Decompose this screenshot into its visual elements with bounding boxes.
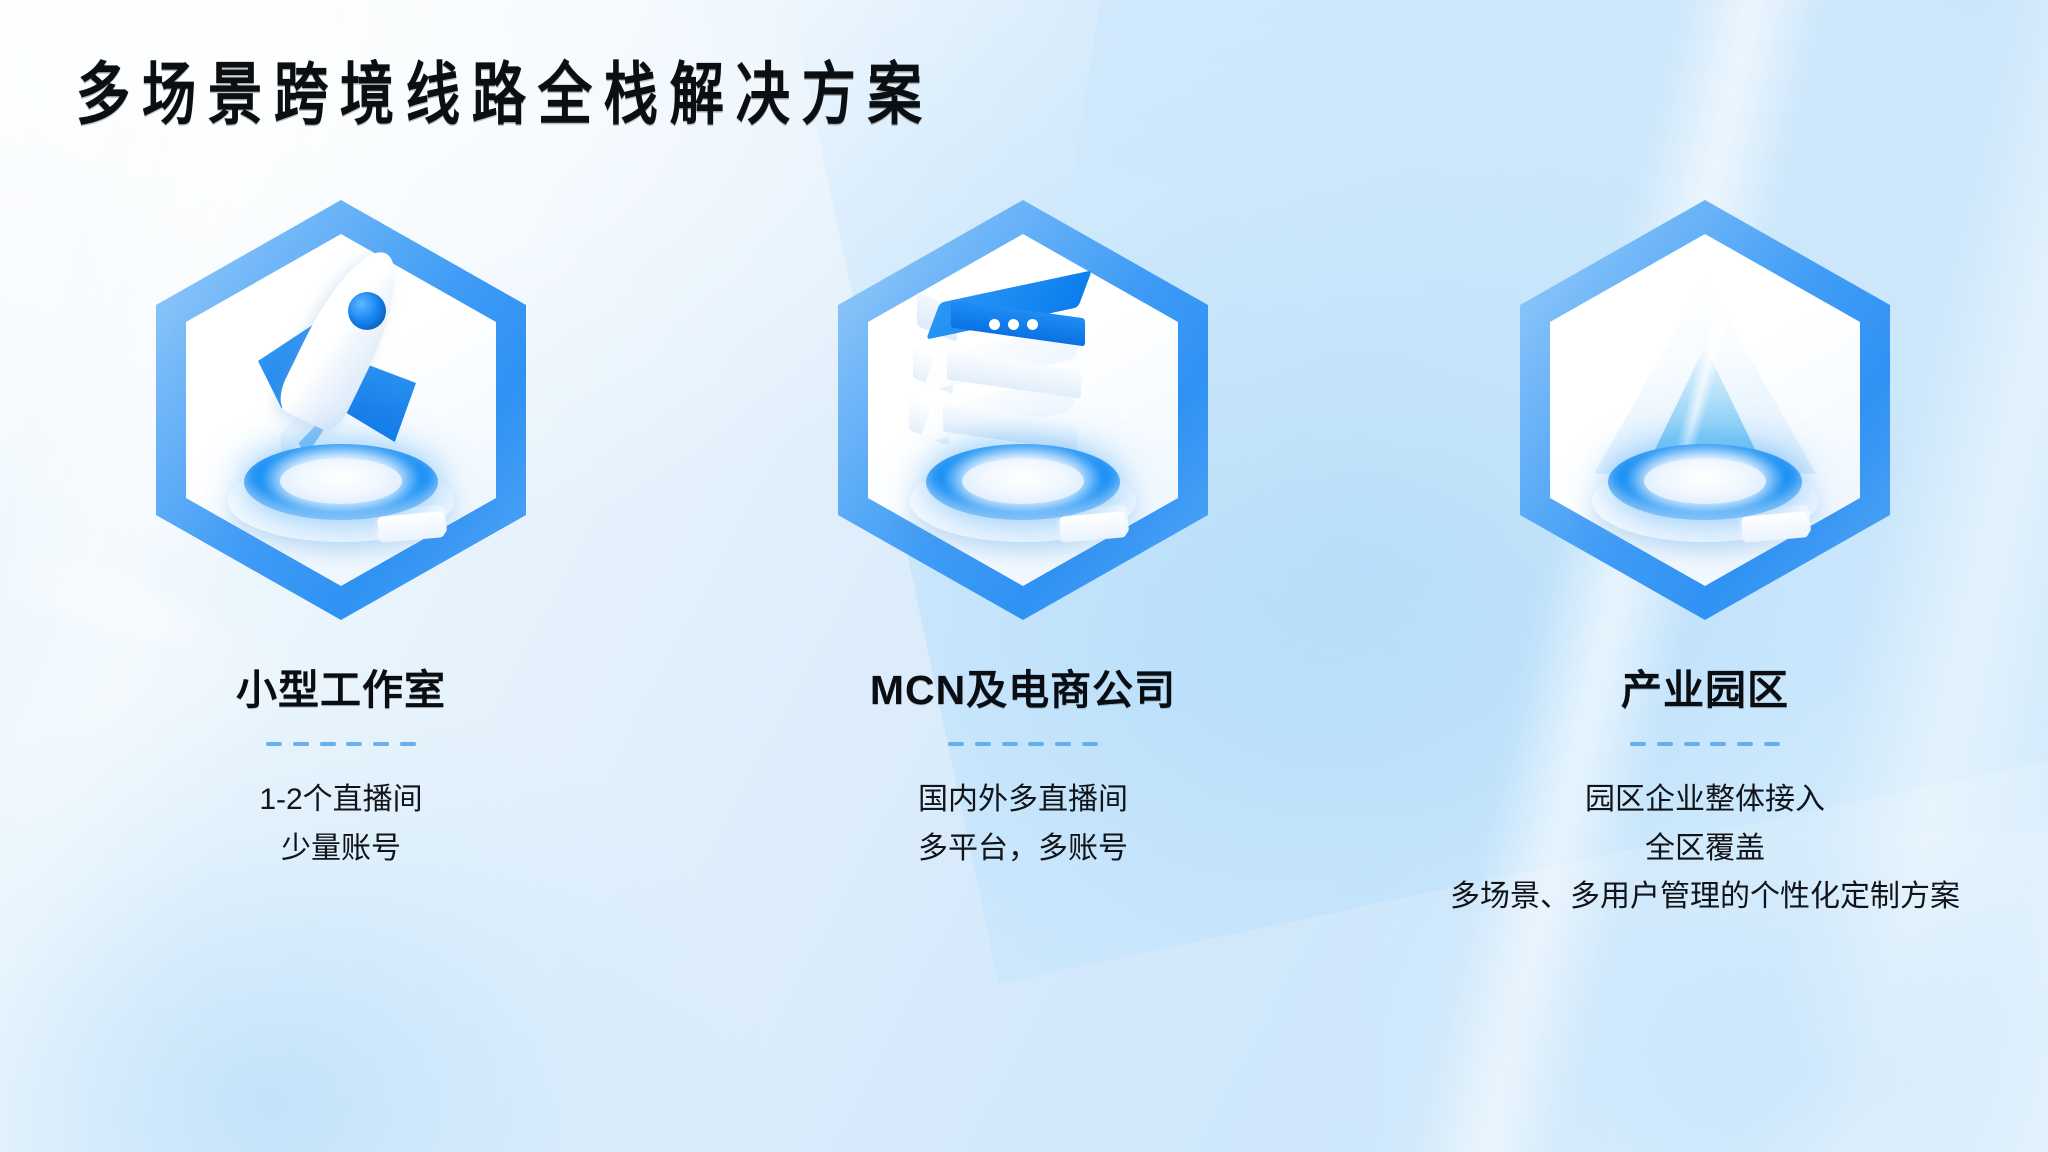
divider-dash: [1684, 742, 1700, 746]
glow-ring-pedestal: [1598, 438, 1812, 538]
solution-card[interactable]: MCN及电商公司 国内外多直播间 多平台，多账号: [682, 200, 1364, 1100]
status-dot: [989, 319, 1000, 330]
card-description-line: 国内外多直播间: [918, 776, 1128, 825]
pyramid-icon: [1520, 200, 1890, 620]
card-description-line: 少量账号: [259, 825, 422, 874]
glow-ring-pedestal: [916, 438, 1130, 538]
divider-dash: [1055, 742, 1071, 746]
card-description-line: 园区企业整体接入: [1450, 776, 1960, 825]
divider-dash: [266, 742, 282, 746]
server-stack-icon: [838, 200, 1208, 620]
solution-card[interactable]: 产业园区 园区企业整体接入 全区覆盖 多场景、多用户管理的个性化定制方案: [1364, 200, 2046, 1100]
divider-dash: [1002, 742, 1018, 746]
divider-dash: [1764, 742, 1780, 746]
card-description: 园区企业整体接入 全区覆盖 多场景、多用户管理的个性化定制方案: [1450, 776, 1960, 922]
server-stack-illustration: [923, 284, 1123, 464]
card-description: 1-2个直播间 少量账号: [259, 776, 422, 873]
card-description: 国内外多直播间 多平台，多账号: [918, 776, 1128, 873]
solution-card[interactable]: 小型工作室 1-2个直播间 少量账号: [0, 200, 682, 1100]
hexagon-badge: [838, 200, 1208, 620]
status-dots: [989, 319, 1038, 330]
card-divider: [266, 742, 416, 746]
hexagon-badge: [1520, 200, 1890, 620]
rocket-icon: [156, 200, 526, 620]
divider-dash: [320, 742, 336, 746]
pedestal-notch: [377, 511, 445, 543]
divider-dash: [948, 742, 964, 746]
card-divider: [1630, 742, 1780, 746]
status-dot: [1027, 319, 1038, 330]
divider-dash: [293, 742, 309, 746]
status-dot: [1008, 319, 1019, 330]
divider-dash: [1082, 742, 1098, 746]
pedestal-inner-glow: [1644, 458, 1766, 504]
divider-dash: [400, 742, 416, 746]
divider-dash: [975, 742, 991, 746]
divider-dash: [1028, 742, 1044, 746]
page-title: 多场景跨境线路全栈解决方案: [76, 56, 933, 135]
server-layer-active: [933, 288, 1121, 342]
card-title: 产业园区: [1621, 656, 1789, 716]
card-divider: [948, 742, 1098, 746]
divider-dash: [1737, 742, 1753, 746]
card-title: MCN及电商公司: [870, 656, 1176, 716]
pedestal-notch: [1741, 511, 1809, 543]
card-description-line: 全区覆盖: [1450, 825, 1960, 874]
card-description-line: 多平台，多账号: [918, 825, 1128, 874]
divider-dash: [346, 742, 362, 746]
divider-dash: [1630, 742, 1646, 746]
pedestal-inner-glow: [280, 458, 402, 504]
card-description-line: 多场景、多用户管理的个性化定制方案: [1450, 873, 1960, 922]
card-description-line: 1-2个直播间: [259, 776, 422, 825]
divider-dash: [373, 742, 389, 746]
divider-dash: [1710, 742, 1726, 746]
rocket-illustration: [236, 240, 446, 470]
card-title: 小型工作室: [236, 656, 446, 716]
divider-dash: [1657, 742, 1673, 746]
pedestal-inner-glow: [962, 458, 1084, 504]
server-layer-middle: [929, 340, 1117, 394]
rocket-window: [348, 292, 386, 330]
hexagon-badge: [156, 200, 526, 620]
solution-card-list: 小型工作室 1-2个直播间 少量账号: [0, 200, 2048, 1100]
glow-ring-pedestal: [234, 438, 448, 538]
pedestal-notch: [1059, 511, 1127, 543]
